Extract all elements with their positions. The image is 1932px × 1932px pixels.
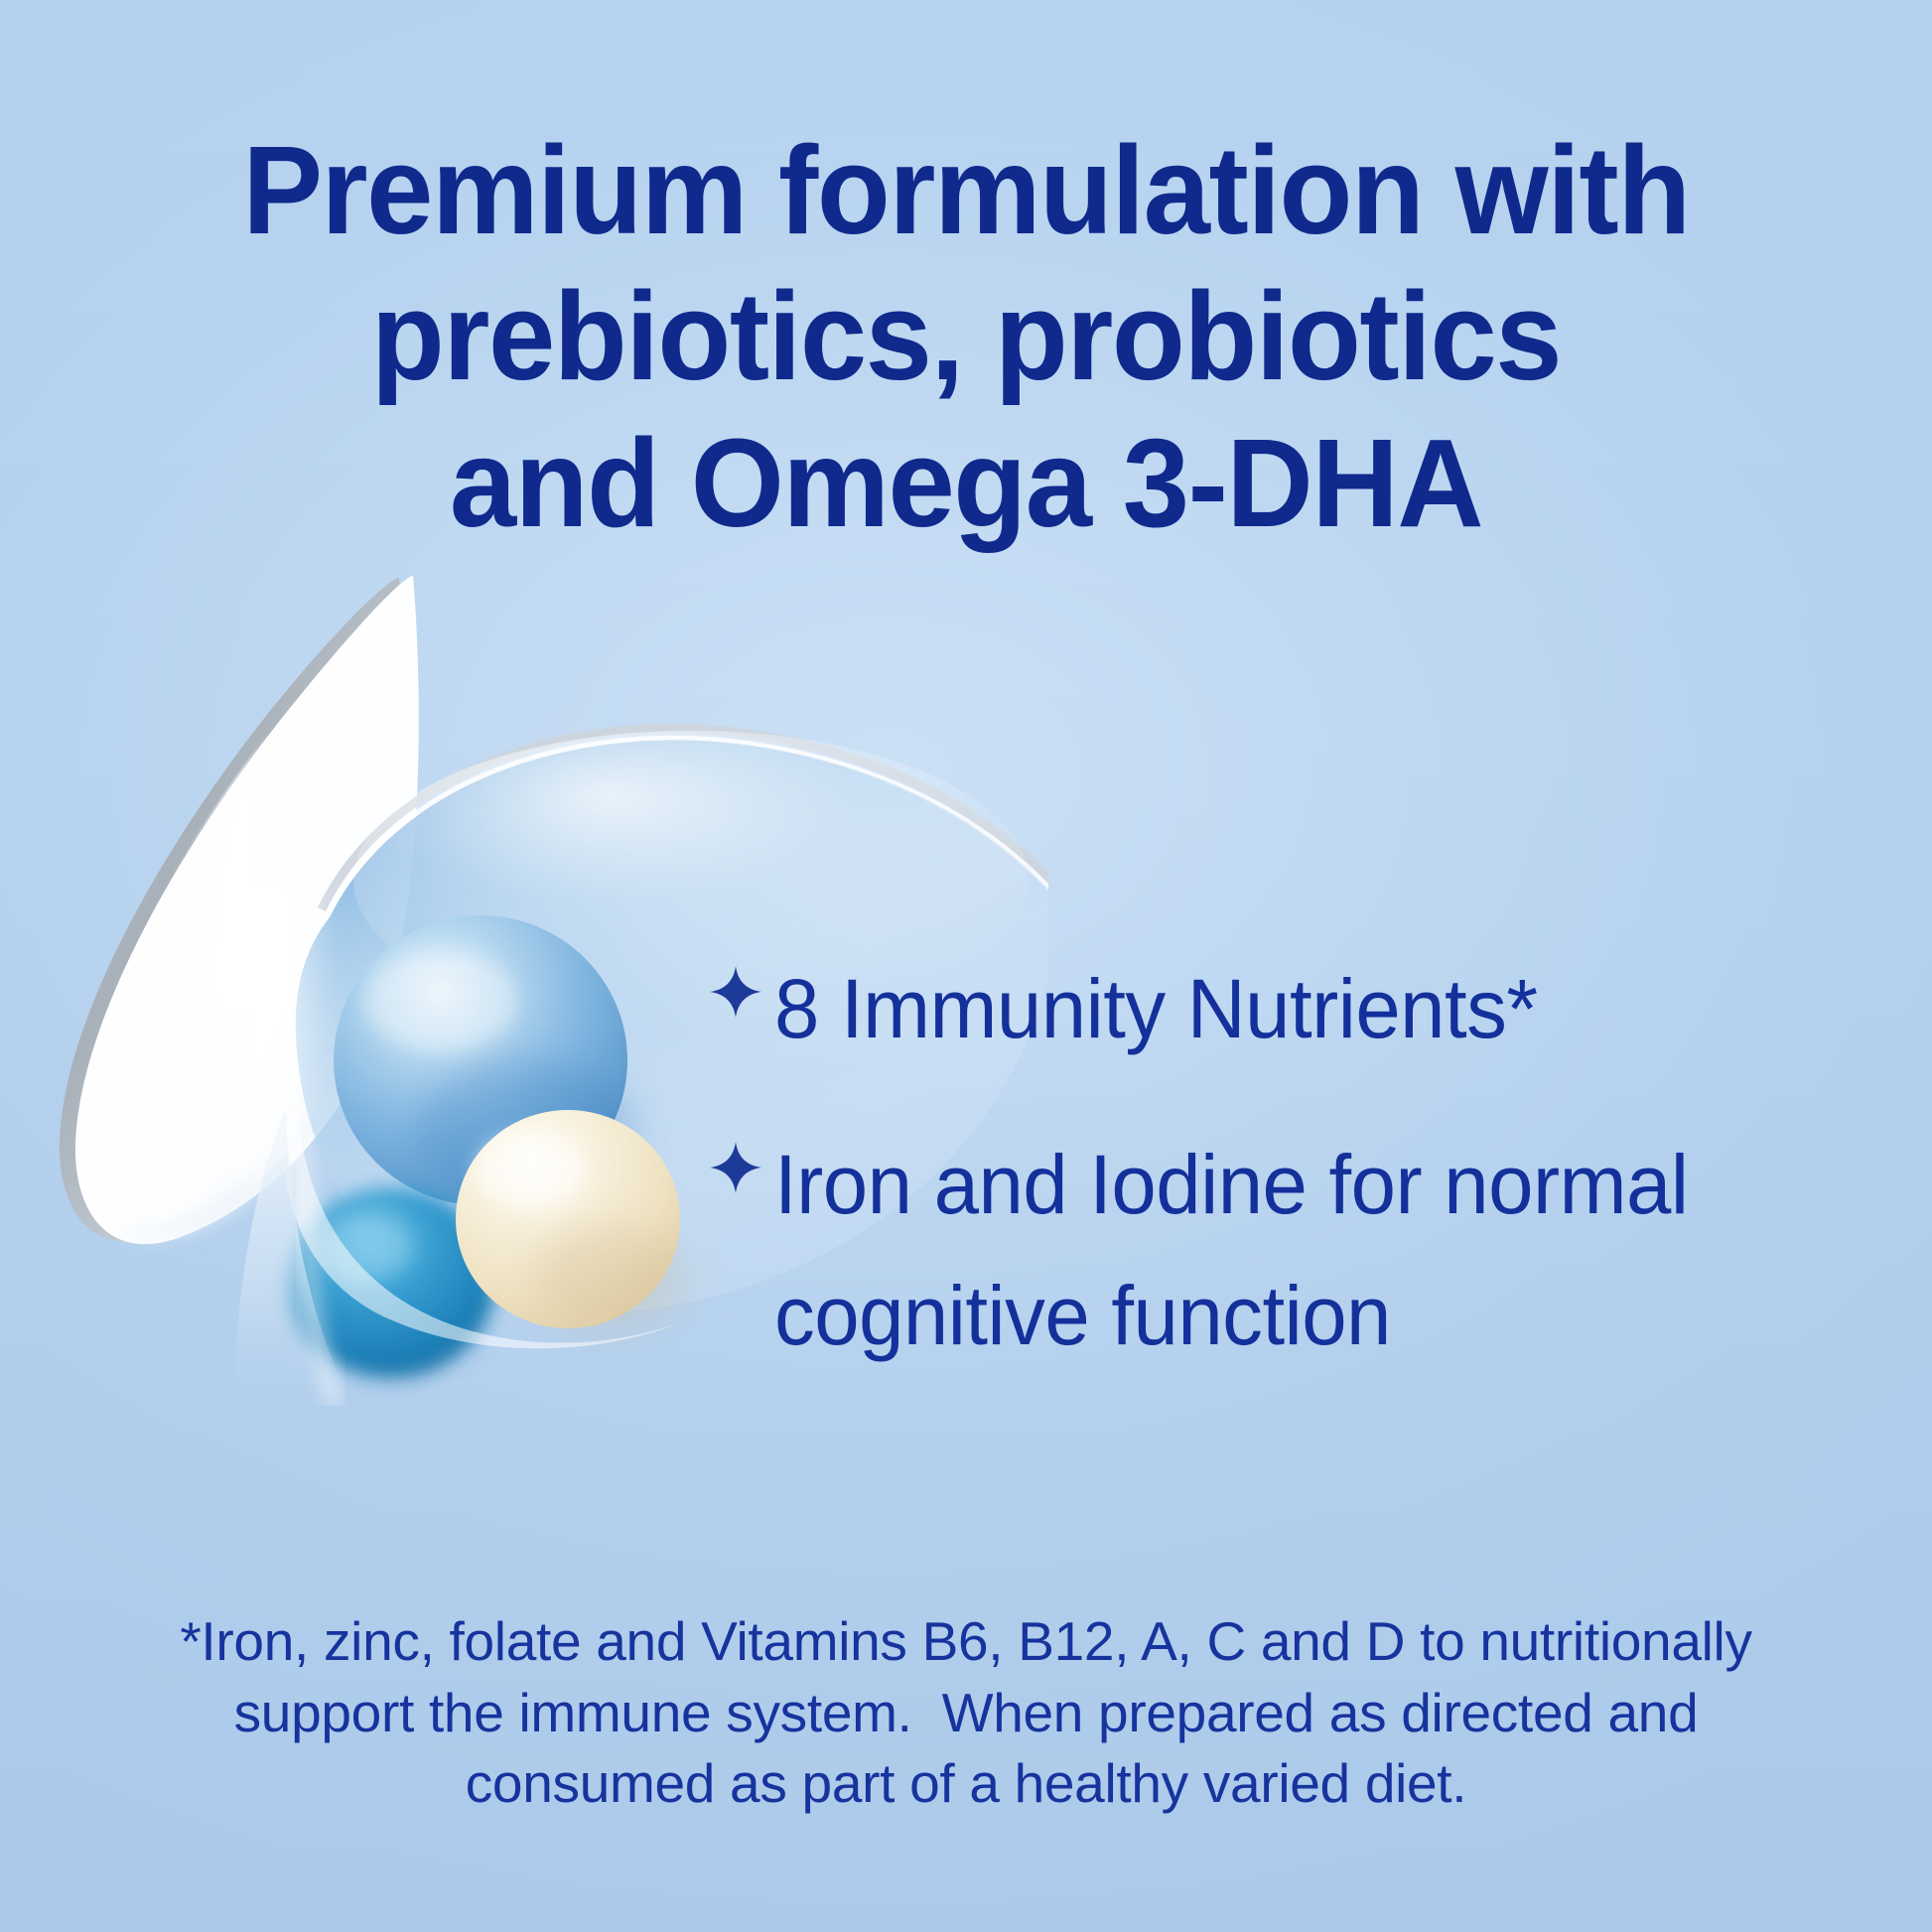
footnote-line-3: consumed as part of a healthy varied die… [0,1748,1932,1820]
page-title-line-2: prebiotics, probiotics [39,263,1893,409]
list-item-label: Iron and Iodine for normal cognitive fun… [774,1119,1876,1382]
footnote-line-1: *Iron, zinc, folate and Vitamins B6, B12… [0,1606,1932,1678]
sparkle-star-icon [709,1125,774,1206]
page-title-line-1: Premium formulation with [39,117,1893,263]
marketing-infographic: Premium formulation with prebiotics, pro… [0,0,1932,1932]
feature-bullet-list: 8 Immunity Nutrients* Iron and Iodine fo… [709,943,1910,1382]
page-title-line-3: and Omega 3-DHA [39,410,1893,556]
droplet-gloss [193,751,316,1187]
sparkle-star-icon [709,949,774,1031]
footnote-line-2: support the immune system. When prepared… [0,1678,1932,1749]
list-item: Iron and Iodine for normal cognitive fun… [709,1119,1910,1382]
page-title: Premium formulation with prebiotics, pro… [39,117,1893,556]
footnote-disclaimer: *Iron, zinc, folate and Vitamins B6, B12… [0,1606,1932,1820]
list-item: 8 Immunity Nutrients* [709,943,1910,1075]
list-item-label: 8 Immunity Nutrients* [774,943,1538,1075]
